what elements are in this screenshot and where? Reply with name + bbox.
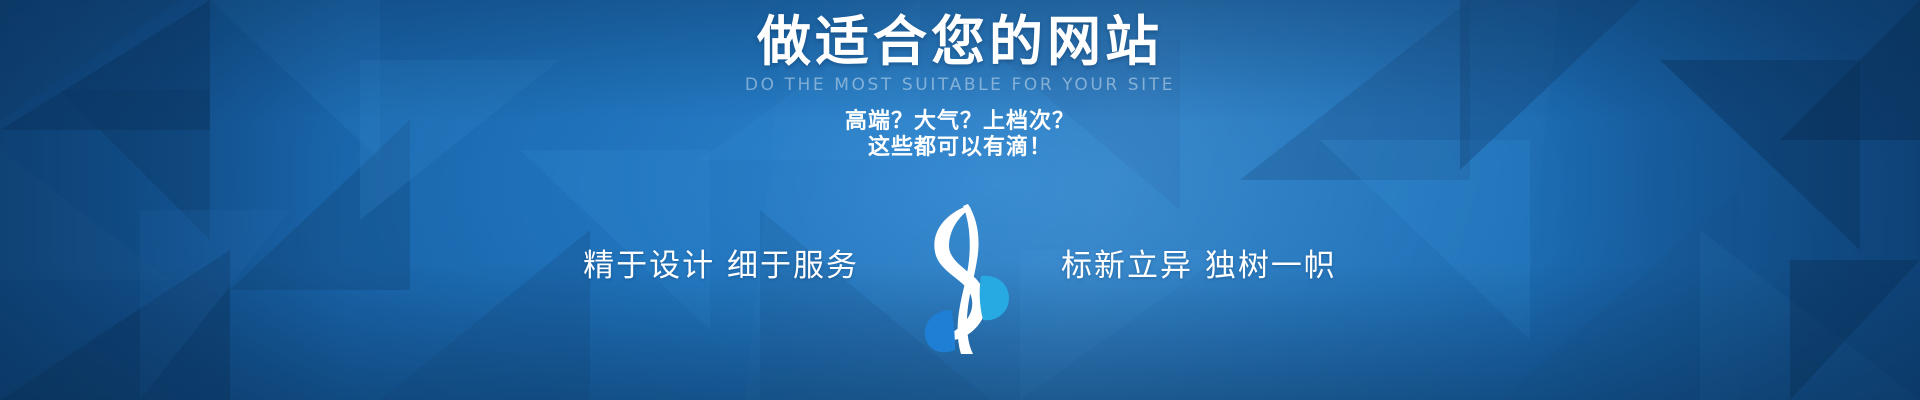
banner-tagline-answer: 这些都可以有滴！: [0, 133, 1920, 163]
slogan-row: 精于设计 细于服务 标新立异 独树一帜: [0, 178, 1920, 354]
banner-title: 做适合您的网站: [0, 12, 1920, 72]
hero-banner: 做适合您的网站 DO THE MOST SUITABLE FOR YOUR SI…: [0, 0, 1920, 400]
leaf-swirl-logo: [905, 204, 1015, 354]
banner-subtitle-english: DO THE MOST SUITABLE FOR YOUR SITE: [0, 74, 1920, 96]
banner-content: 做适合您的网站 DO THE MOST SUITABLE FOR YOUR SI…: [0, 0, 1920, 400]
slogan-right: 标新立异 独树一帜: [1061, 244, 1337, 288]
slogan-left: 精于设计 细于服务: [583, 244, 859, 288]
